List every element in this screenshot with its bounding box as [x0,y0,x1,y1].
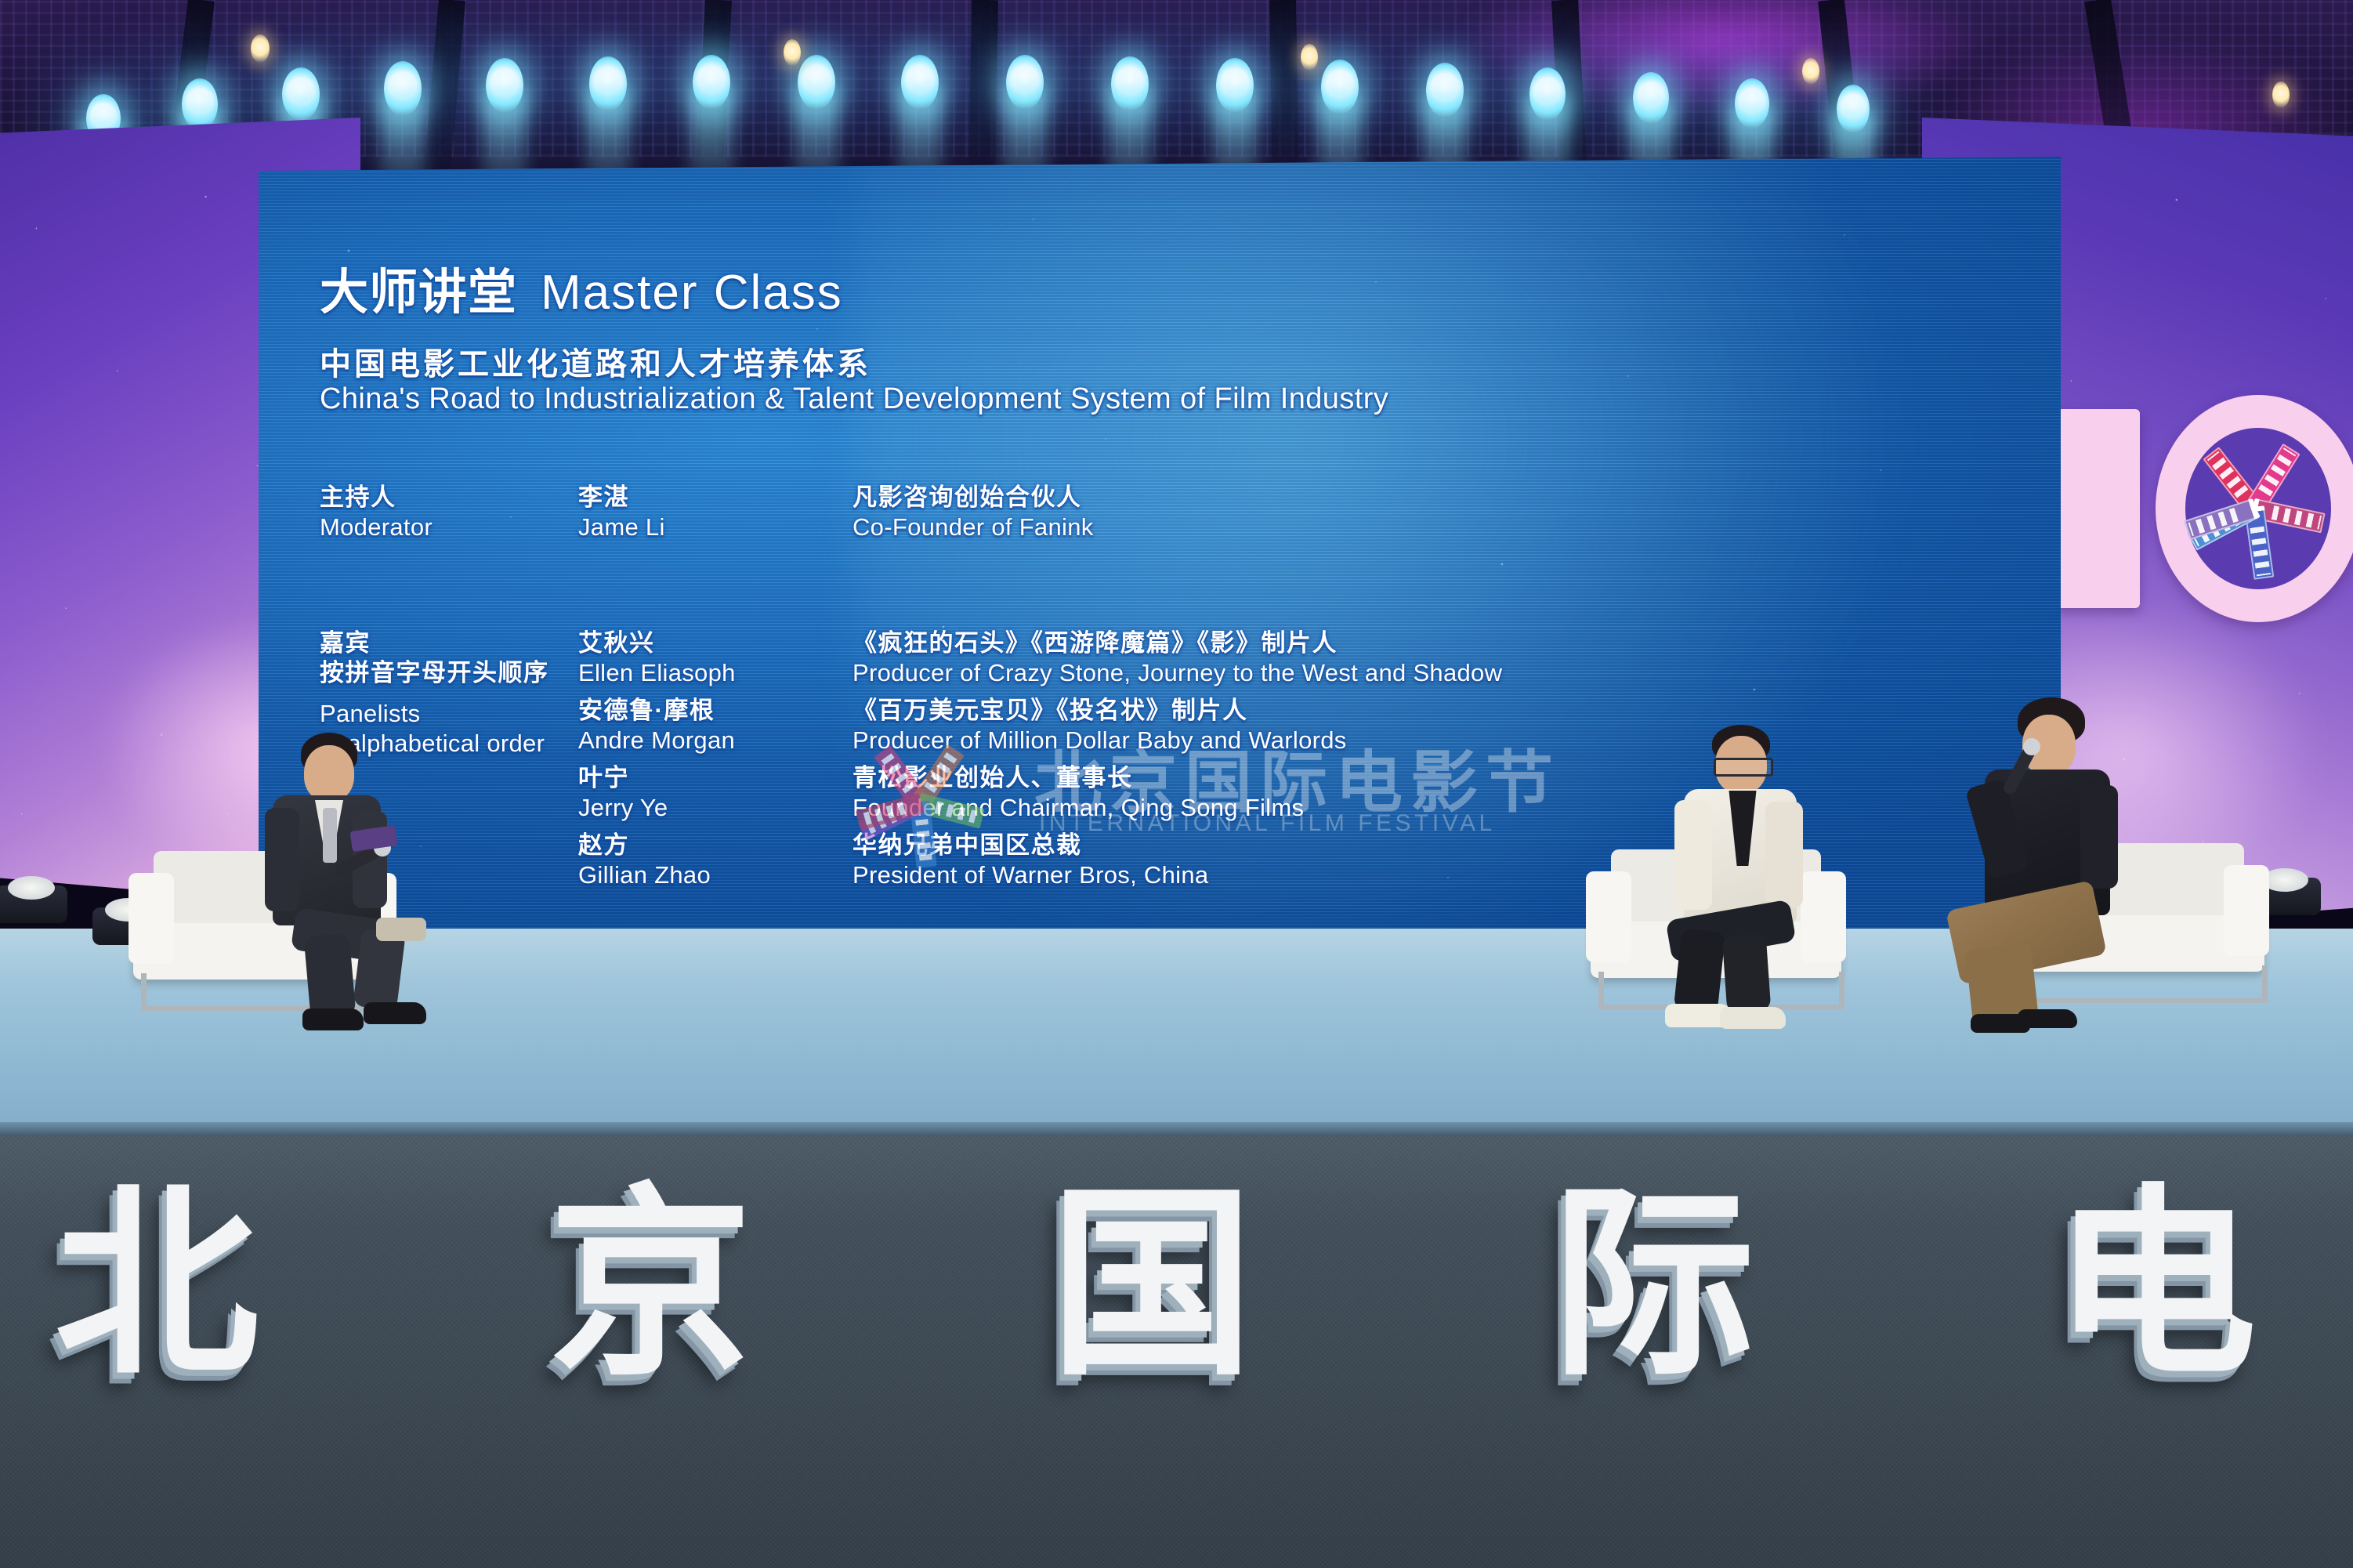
person-name-en: Jerry Ye [578,793,849,823]
panelist-name-4: 赵方 Gillian Zhao [578,831,849,890]
person-name-cn: 叶宁 [578,763,849,793]
person-name-cn: 艾秋兴 [578,628,849,658]
role-label-cn: 主持人 [320,483,578,512]
person-title-cn: 《百万美元宝贝》《投名状》制片人 [853,696,1989,726]
participant-roster: 主持人 Moderator 李湛 Jame Li 凡影咨询创始合伙人 Co-Fo… [320,483,1996,628]
panelist-title-1: 《疯狂的石头》《西游降魔篇》《影》制片人 Producer of Crazy S… [853,628,1989,688]
person-name-en: Andre Morgan [578,726,849,755]
role-note-cn: 按拼音字母开头顺序 [320,658,578,688]
stage-front-char-4: 际 [1551,1183,1755,1387]
stage-front-char-1: 北 [55,1183,259,1387]
person-title-cn: 凡影咨询创始合伙人 [853,483,1989,512]
panelist-name-2: 安德鲁·摩根 Andre Morgan [578,696,849,755]
person-name-cn: 赵方 [578,831,849,860]
eyeglasses-icon [1714,758,1773,777]
person-title-en: Co-Founder of Fanink [853,512,1989,542]
film-reel-pinwheel-icon [2184,426,2340,586]
person-panelist-speaking [1963,697,2182,1027]
person-moderator [259,733,454,1030]
stage-front-char-3: 国 [1050,1183,1254,1387]
role-label-moderator: 主持人 Moderator [320,483,578,542]
slide-subtitle-cn: 中国电影工业化道路和人才培养体系 [320,339,871,384]
slide-subtitle-en: China's Road to Industrialization & Tale… [320,382,1388,416]
slide-title: 大师讲堂Master Class [320,252,843,323]
roster-group-moderator: 主持人 Moderator 李湛 Jame Li 凡影咨询创始合伙人 Co-Fo… [320,483,1996,577]
person-title-cn: 《疯狂的石头》《西游降魔篇》《影》制片人 [853,628,1989,658]
person-name-cn: 安德鲁·摩根 [578,696,849,726]
role-label-en: Moderator [320,512,578,542]
role-label-en: Panelists [320,699,578,729]
person-name-en: Jame Li [578,512,849,542]
stage-front-char-5: 电 [2053,1183,2257,1387]
person-panelist-white-blazer [1673,725,1869,1030]
person-name-moderator: 李湛 Jame Li [578,483,849,542]
person-name-cn: 李湛 [578,483,849,512]
stage-front-char-2: 京 [548,1183,752,1387]
conference-stage-photo: 大师讲堂Master Class 中国电影工业化道路和人才培养体系 China'… [0,0,2353,1568]
person-name-en: Ellen Eliasoph [578,658,849,688]
panelist-name-1: 艾秋兴 Ellen Eliasoph [578,628,849,688]
role-label-cn: 嘉宾 [320,628,578,658]
person-title-en: Producer of Crazy Stone, Journey to the … [853,658,1989,688]
slide-title-cn: 大师讲堂 [320,266,517,320]
floor-uplight [0,885,67,923]
panelist-name-3: 叶宁 Jerry Ye [578,763,849,823]
anniversary-digit-one [2055,409,2140,608]
person-title-moderator: 凡影咨询创始合伙人 Co-Founder of Fanink [853,483,1989,542]
anniversary-logo [2041,392,2353,627]
slide-title-en: Master Class [541,266,843,320]
person-name-en: Gillian Zhao [578,860,849,890]
